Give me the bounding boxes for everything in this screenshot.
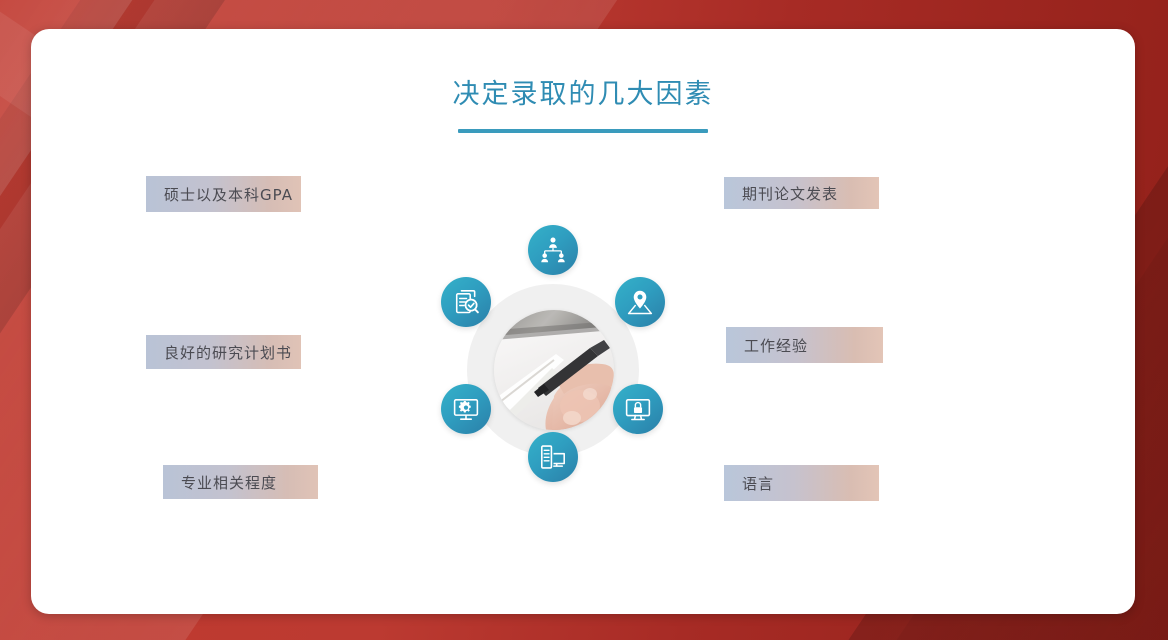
slide: 决定录取的几大因素 硕士以及本科GPA 良好的研究计划书 专业相关程度 期刊论文…	[0, 0, 1168, 640]
factor-label-left-3[interactable]: 专业相关程度	[163, 465, 318, 499]
factor-label-text: 专业相关程度	[181, 472, 277, 493]
monitor-lock-icon	[624, 395, 652, 423]
factor-label-text: 硕士以及本科GPA	[164, 184, 293, 205]
title-underline	[458, 129, 708, 133]
slide-card: 决定录取的几大因素 硕士以及本科GPA 良好的研究计划书 专业相关程度 期刊论文…	[31, 29, 1135, 614]
org-chart-people-icon	[539, 236, 567, 264]
hub-icon-devices[interactable]	[528, 432, 578, 482]
factor-label-right-2[interactable]: 工作经验	[726, 327, 883, 363]
location-pin-map-icon	[626, 288, 654, 316]
hand-writing-with-pen-photo	[494, 310, 614, 430]
hub-icon-security[interactable]	[613, 384, 663, 434]
factor-label-left-2[interactable]: 良好的研究计划书	[146, 335, 301, 369]
document-search-check-icon	[452, 288, 480, 316]
factor-label-text: 工作经验	[744, 335, 808, 356]
hub-center-photo	[494, 310, 614, 430]
hub-icon-location[interactable]	[615, 277, 665, 327]
central-hub-diagram	[434, 220, 672, 488]
monitor-gear-icon	[452, 395, 480, 423]
factor-label-right-3[interactable]: 语言	[724, 465, 879, 501]
factor-label-text: 语言	[742, 473, 774, 494]
factor-label-text: 良好的研究计划书	[164, 342, 292, 363]
title-block: 决定录取的几大因素	[31, 75, 1135, 133]
server-and-monitor-icon	[539, 443, 567, 471]
hub-icon-settings[interactable]	[441, 384, 491, 434]
hub-icon-review[interactable]	[441, 277, 491, 327]
page-title: 决定录取的几大因素	[31, 75, 1135, 115]
factor-label-text: 期刊论文发表	[742, 183, 838, 204]
hub-icon-org-chart[interactable]	[528, 225, 578, 275]
factor-label-right-1[interactable]: 期刊论文发表	[724, 177, 879, 209]
factor-label-left-1[interactable]: 硕士以及本科GPA	[146, 176, 301, 212]
